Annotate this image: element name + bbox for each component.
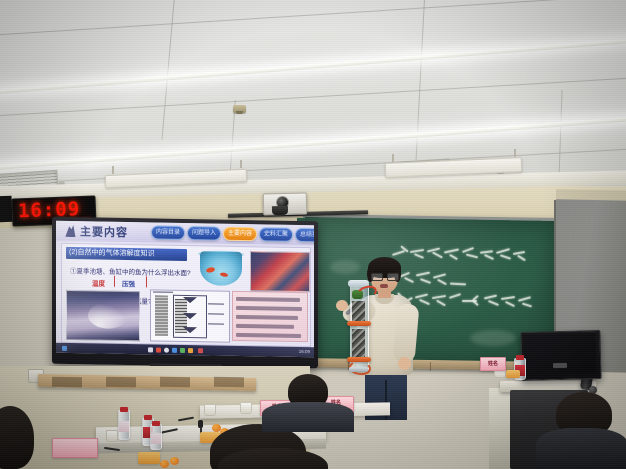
audience-shoulders xyxy=(536,428,626,469)
snack-tray[interactable] xyxy=(506,370,520,378)
apparatus-base xyxy=(349,367,368,372)
bottle-cap xyxy=(152,421,160,426)
monitor-brand-logo xyxy=(553,363,567,368)
taskbar-app-icon[interactable] xyxy=(156,347,161,352)
slide-question-1: ①夏季池塘、鱼缸中的鱼为什么浮出水面? xyxy=(70,265,191,277)
answer-divider xyxy=(114,276,115,287)
slide-title: 主要内容 xyxy=(80,223,128,240)
monitor-screen[interactable] xyxy=(523,333,596,375)
audience-shoulders xyxy=(262,402,354,432)
podium-side-cabinet xyxy=(489,388,511,469)
taskbar-app-icon[interactable] xyxy=(180,347,185,352)
camera-mount xyxy=(272,206,288,215)
bottle-cap xyxy=(120,407,128,412)
snack-tray[interactable] xyxy=(138,452,160,464)
name-placard: 姓名 xyxy=(480,357,506,371)
slide-answer-chip-1: 压强 xyxy=(122,278,135,288)
aeration-column-apparatus xyxy=(347,277,371,372)
apparatus-filter-media xyxy=(352,329,365,359)
bottle-cap xyxy=(516,355,524,360)
shelf-slot xyxy=(214,377,244,388)
slide-answer-chip-0: 温度 xyxy=(92,277,105,287)
shelf-slot xyxy=(160,377,190,388)
presentation-slide: 主要内容 内容目录 问题导入 主要内容 史料汇聚 总结提升 (2)自然中的气体溶… xyxy=(56,221,314,348)
water-bottle[interactable] xyxy=(118,410,130,440)
classroom-photo: 16:09 xyxy=(0,0,626,469)
screen-hook xyxy=(514,149,516,157)
slide-nav-tab-2[interactable]: 主要内容 xyxy=(223,227,257,242)
microphone[interactable] xyxy=(198,420,203,428)
taskbar-start-icon[interactable] xyxy=(62,345,67,350)
taskbar-app-icon[interactable] xyxy=(172,347,177,352)
blackboard-sheen xyxy=(305,217,555,365)
taskbar-app-icon[interactable] xyxy=(198,348,203,353)
teacher-right-hand xyxy=(398,357,411,370)
taskbar-app-icon[interactable] xyxy=(148,347,153,352)
slide-body: (2)自然中的气体溶解度知识 ①夏季池塘、鱼缸中的鱼为什么浮出水面? 温度 压强… xyxy=(61,243,311,347)
paper-cup[interactable] xyxy=(106,430,118,442)
slide-nav-tab-4[interactable]: 总结提升 xyxy=(295,228,314,243)
tangerine[interactable] xyxy=(160,460,169,468)
glasses-icon xyxy=(371,273,398,279)
water-bottle[interactable] xyxy=(150,424,162,450)
screen-hook xyxy=(112,166,114,174)
shelf-slot xyxy=(106,377,136,388)
taskbar-app-icon[interactable] xyxy=(164,347,169,352)
slide-nav-tab-3[interactable]: 史料汇聚 xyxy=(259,227,293,242)
screen-hook xyxy=(240,160,242,168)
name-placard xyxy=(52,438,98,458)
koi-pond-photo xyxy=(250,251,310,292)
slide-section-header: (2)自然中的气体溶解度知识 xyxy=(66,247,187,261)
taskbar-clock: 16:09 xyxy=(299,349,310,354)
fishbowl-photo xyxy=(200,251,242,286)
apparatus-clamp-ring xyxy=(347,321,371,326)
bottle-label xyxy=(151,433,161,444)
taskbar-app-icon[interactable] xyxy=(188,348,193,353)
teacher-right-arm xyxy=(393,303,420,363)
placard-name: 姓名 xyxy=(481,360,505,367)
screen-hook xyxy=(392,154,394,162)
bottle-label xyxy=(119,421,129,432)
smoke-detector-icon xyxy=(233,105,246,113)
slide-nav-tab-1[interactable]: 问题导入 xyxy=(187,226,221,241)
smart-display-screen[interactable]: 主要内容 内容目录 问题导入 主要内容 史料汇聚 总结提升 (2)自然中的气体溶… xyxy=(56,221,314,358)
aeration-tower-diagram xyxy=(150,289,230,342)
shelf-slot xyxy=(52,377,82,388)
paper-cup[interactable] xyxy=(204,404,216,416)
slide-nav-tab-0[interactable]: 内容目录 xyxy=(151,225,185,240)
slide-textbox xyxy=(232,291,308,342)
answer-divider xyxy=(146,276,147,287)
fountain-spray xyxy=(88,302,128,329)
tangerine[interactable] xyxy=(170,457,179,465)
apparatus-filter-media xyxy=(352,301,365,323)
bottle-cap xyxy=(144,415,152,420)
paper-cup[interactable] xyxy=(240,402,252,414)
teacher-mouth xyxy=(380,284,388,288)
